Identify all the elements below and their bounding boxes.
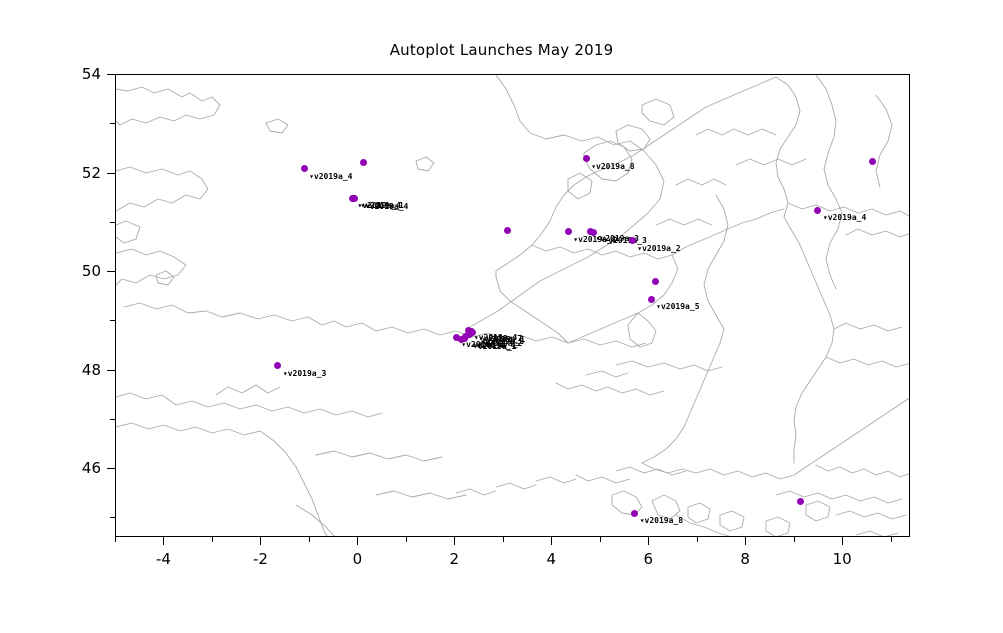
data-point-label: ▾v2019a_2 [637,245,680,253]
data-point [301,165,308,172]
data-point [583,155,590,162]
data-point [797,498,804,505]
x-axis-tick-label: -2 [253,550,268,568]
x-axis-tick [842,537,843,545]
x-axis-minor-tick [891,537,892,542]
y-axis-minor-tick [110,123,115,124]
x-axis-minor-tick [600,537,601,542]
data-point [360,159,367,166]
data-point [814,207,821,214]
y-axis-tick [107,271,115,272]
x-axis-minor-tick [309,537,310,542]
x-axis-minor-tick [794,537,795,542]
y-axis-tick [107,173,115,174]
y-axis-minor-tick [110,320,115,321]
data-point-label: ▾v2019a_3 [283,370,326,378]
data-point-label: ▾v2019a_4 [309,173,352,181]
x-axis-tick-label: 6 [643,550,653,568]
page-title: Autoplot Launches May 2019 [0,41,1003,59]
data-point [458,336,465,343]
x-axis-tick [648,537,649,545]
data-point-label: ▾v2019a_5 [656,303,699,311]
figure-canvas: Autoplot Launches May 2019 [0,0,1003,633]
data-point-label: ▾v2019a_4 [365,203,408,211]
x-axis-tick [454,537,455,545]
x-axis-tick-label: 8 [740,550,750,568]
data-point [648,296,655,303]
y-axis-tick-label: 46 [67,459,101,477]
data-point [869,158,876,165]
y-axis-tick-label: 50 [67,262,101,280]
y-axis-minor-tick [110,222,115,223]
x-axis-minor-tick [115,537,116,542]
data-point [504,227,511,234]
y-axis-tick [107,468,115,469]
data-point-label: ▾v2019a_8 [640,517,683,525]
data-point-label: ▾v2019a_8 [591,163,634,171]
x-axis-tick [260,537,261,545]
x-axis-minor-tick [212,537,213,542]
data-point-label: ▾v2019a_4 [823,214,866,222]
x-axis-tick [163,537,164,545]
data-point [565,228,572,235]
data-point [274,362,281,369]
scatter-points-layer: ▾v2019a_4▾v2019a_4▾v2019a_1▾v2019a_4▾v20… [116,75,910,537]
x-axis-tick [745,537,746,545]
data-point-label: ▾v2019a_1 [473,343,516,351]
y-axis-minor-tick [110,517,115,518]
x-axis-tick [551,537,552,545]
data-point [652,278,659,285]
data-point [631,510,638,517]
y-axis-tick-label: 54 [67,65,101,83]
x-axis-minor-tick [503,537,504,542]
plot-area: ▾v2019a_4▾v2019a_4▾v2019a_1▾v2019a_4▾v20… [115,74,910,537]
x-axis-tick [357,537,358,545]
x-axis-tick-label: 0 [353,550,363,568]
y-axis-tick [107,370,115,371]
y-axis-minor-tick [110,419,115,420]
y-axis-tick [107,74,115,75]
x-axis-tick-label: 10 [833,550,852,568]
x-axis-minor-tick [697,537,698,542]
x-axis-tick-label: -4 [156,550,171,568]
x-axis-tick-label: 4 [546,550,556,568]
x-axis-minor-tick [406,537,407,542]
y-axis-tick-label: 52 [67,164,101,182]
y-axis-tick-label: 48 [67,361,101,379]
x-axis-tick-label: 2 [450,550,460,568]
